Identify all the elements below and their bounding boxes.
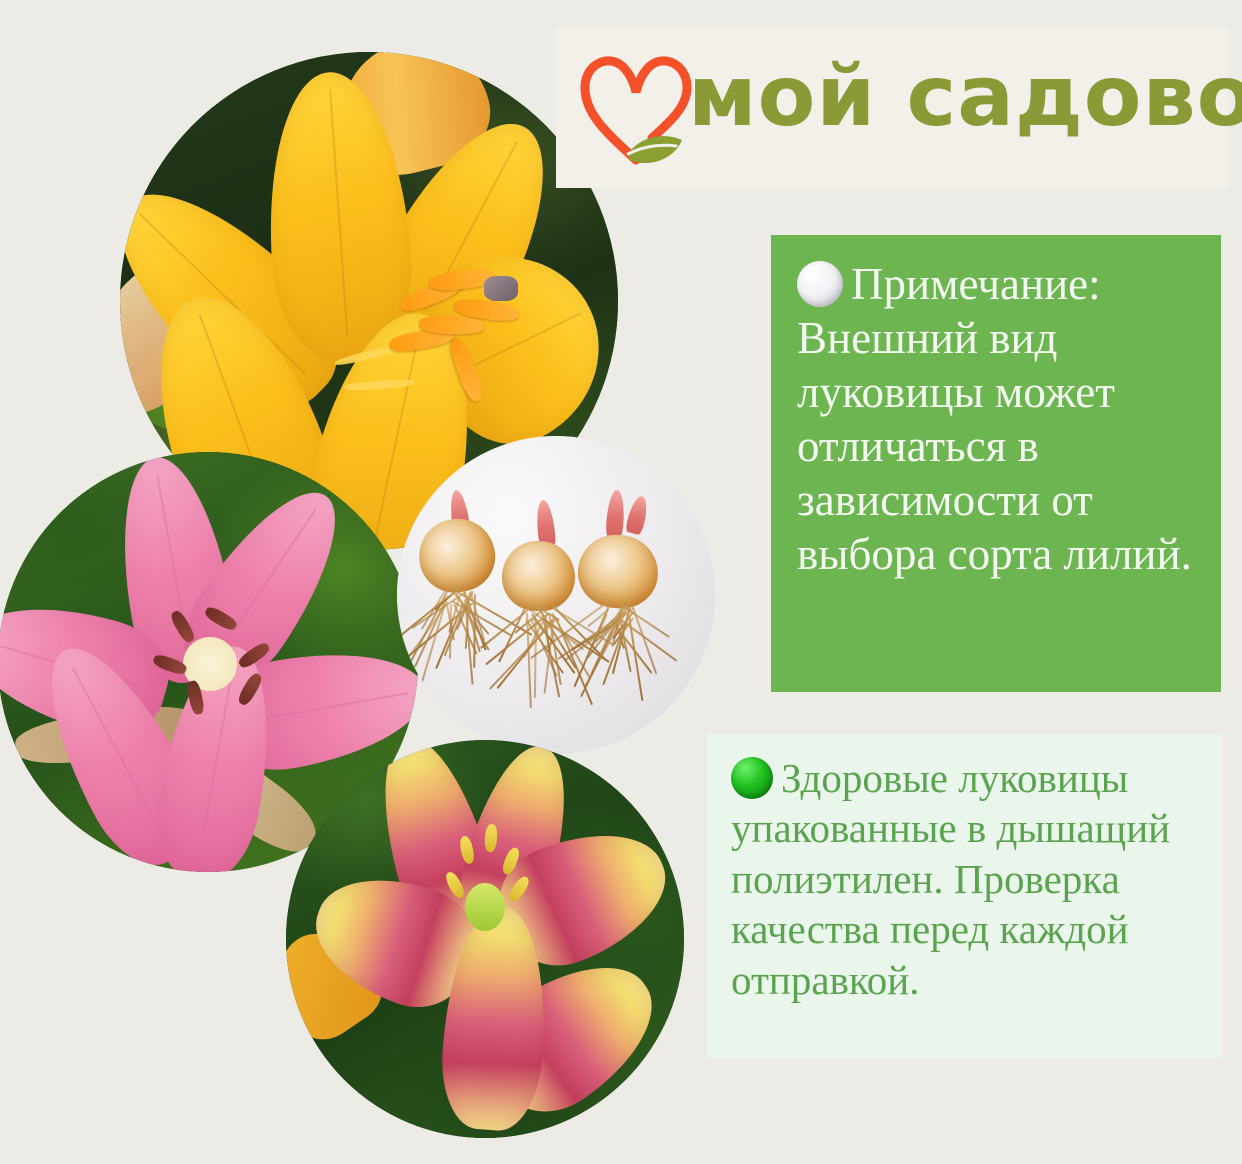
brand-logo: мой садовод xyxy=(556,28,1228,188)
note-card-secondary: Здоровые луковицы упакованные в дышащий … xyxy=(707,733,1222,1058)
note-card-primary: Примечание: Внешний вид луковицы может о… xyxy=(771,235,1221,692)
promo-canvas: мой садовод Примечание: Внешний вид луко… xyxy=(0,0,1242,1164)
green-circle-bullet-icon xyxy=(731,757,773,799)
note-text: Здоровые луковицы упакованные в дышащий … xyxy=(731,755,1170,1003)
red-lily-center xyxy=(465,883,505,931)
photo-lily-bulbs xyxy=(397,436,715,754)
bulb-root-hair xyxy=(473,594,476,668)
logo-mark-icon xyxy=(578,42,696,170)
note-heading: Примечание: xyxy=(851,259,1101,309)
white-circle-bullet-icon xyxy=(797,261,843,307)
note-text: Внешний вид луковицы может отличаться в … xyxy=(797,313,1192,579)
brand-name: мой садовод xyxy=(688,54,1242,138)
pistil-stigma xyxy=(484,276,519,301)
photo-red-yellow-lily xyxy=(286,740,684,1138)
